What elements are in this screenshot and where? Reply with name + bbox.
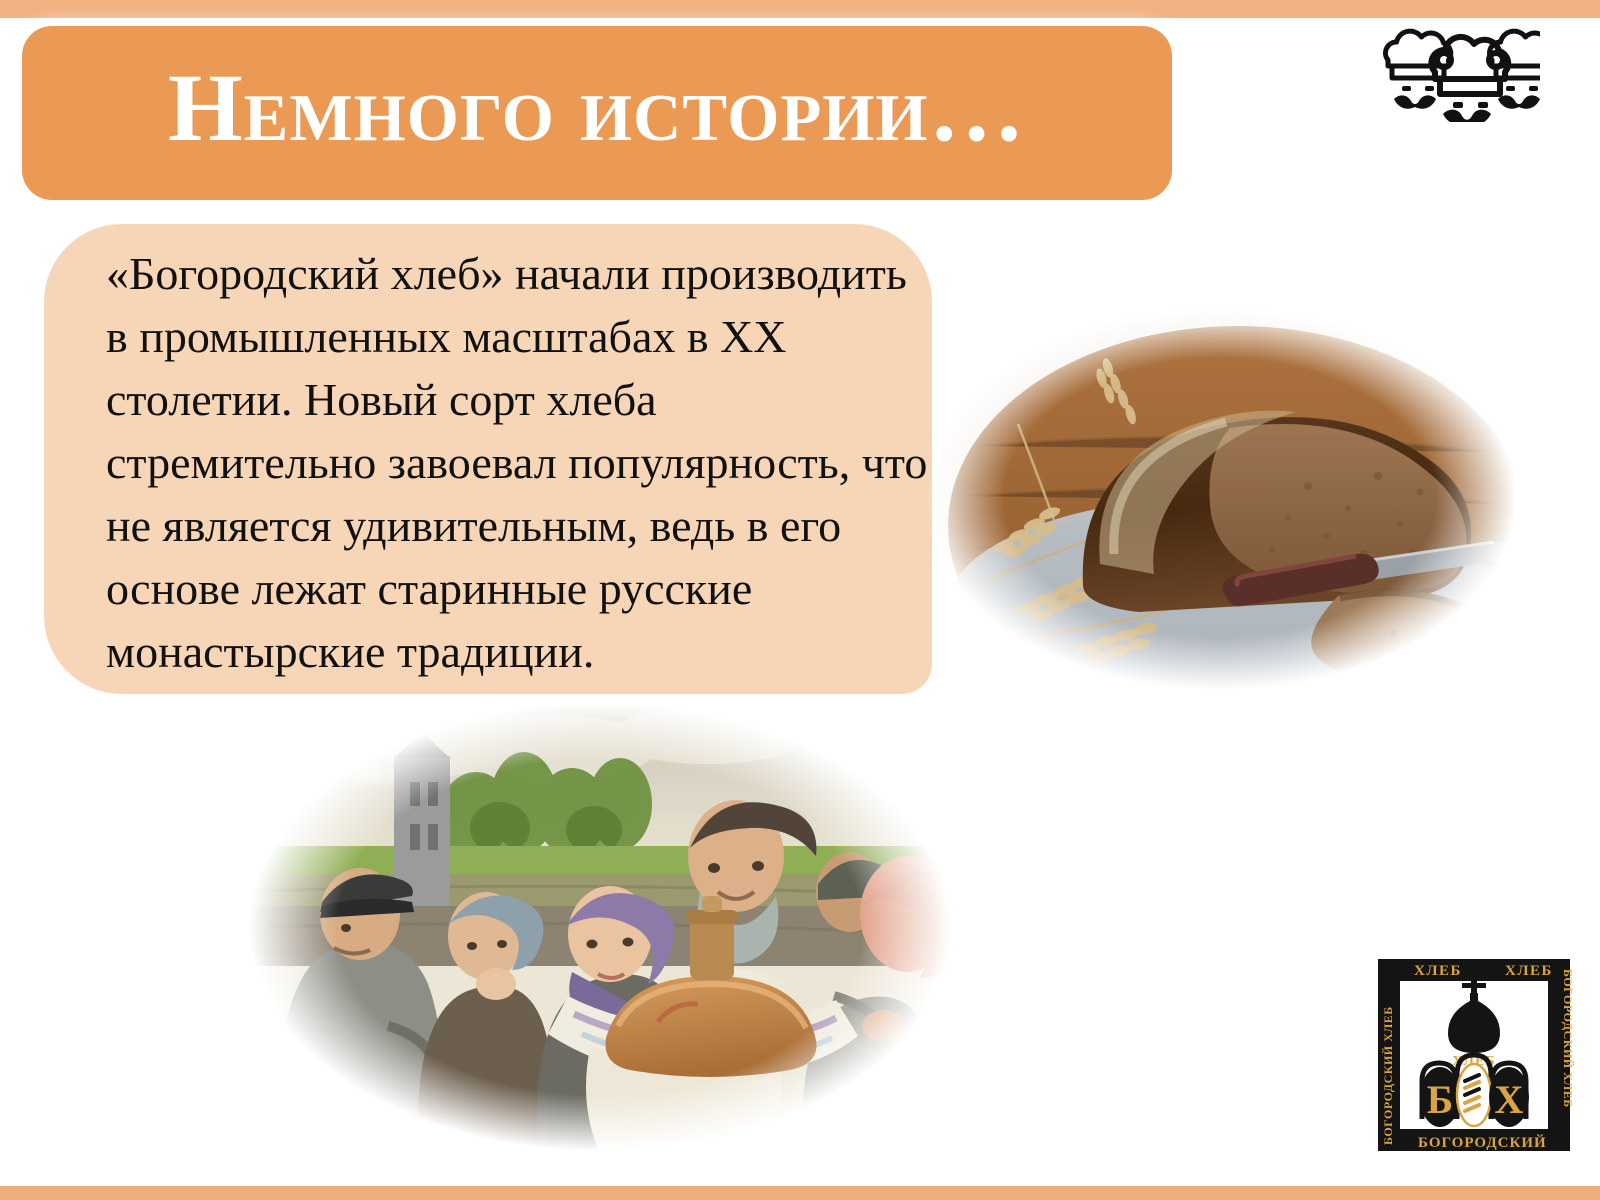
page-title: Немного истории… <box>168 52 1148 164</box>
rye-bread-photo <box>908 296 1532 700</box>
slide-canvas: Немного истории… <box>0 0 1600 1200</box>
svg-text:БОГОРОДСКИЙ: БОГОРОДСКИЙ <box>1418 1134 1547 1151</box>
svg-text:ХЛЕБ: ХЛЕБ <box>1505 963 1553 979</box>
bottom-decorative-band <box>0 1186 1600 1200</box>
svg-text:ХЛЕБ: ХЛЕБ <box>1414 963 1462 979</box>
svg-text:Б: Б <box>1427 1077 1453 1122</box>
svg-text:БОГОРОДСКИЙ ХЛЕБ: БОГОРОДСКИЙ ХЛЕБ <box>1561 969 1574 1108</box>
svg-text:Х: Х <box>1495 1077 1524 1122</box>
bogorodsky-hleb-logo: ХЛЕБ ХЛЕБ БОГОРОДСКИЙ БОГОРОДСКИЙ ХЛЕБ Б… <box>1374 955 1574 1155</box>
top-decorative-band <box>0 0 1600 18</box>
svg-text:БОГОРОДСКИЙ ХЛЕБ: БОГОРОДСКИЙ ХЛЕБ <box>1381 1006 1395 1145</box>
history-text-card: «Богородский хлеб» начали производить в … <box>44 224 932 694</box>
three-chefs-icon <box>1374 24 1540 122</box>
history-paragraph: «Богородский хлеб» начали производить в … <box>106 242 936 683</box>
bread-and-salt-painting <box>238 696 962 1158</box>
